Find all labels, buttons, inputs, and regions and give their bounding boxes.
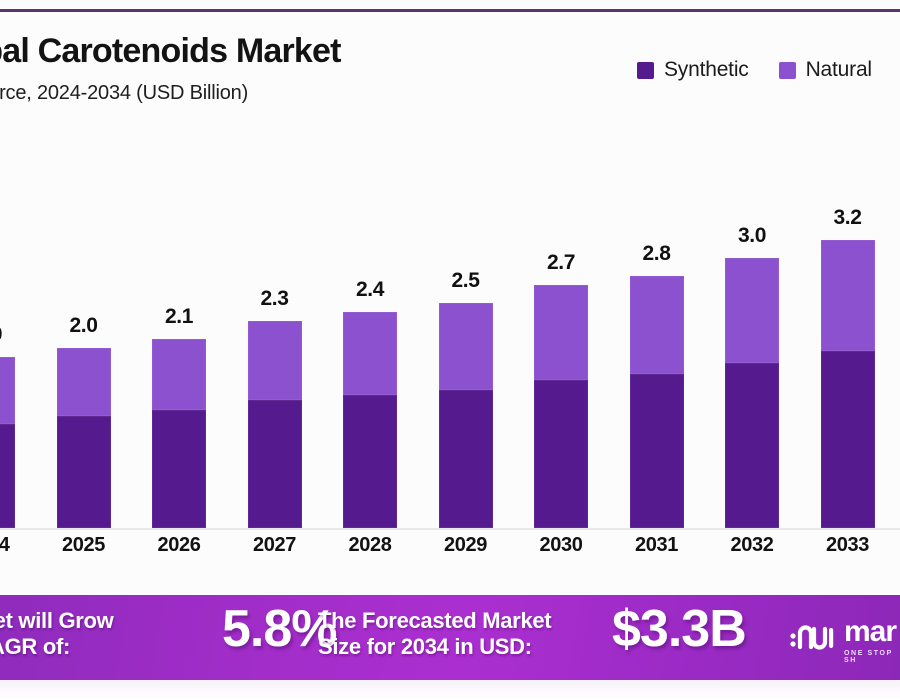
bar-segment-natural[interactable] (152, 339, 206, 410)
brand-wordmark: mar ONE STOP SH (844, 617, 900, 664)
bar-segment-natural[interactable] (534, 285, 588, 380)
bar-value-label: 2.7 (547, 251, 575, 275)
bar-2032[interactable]: 3.0 (725, 258, 779, 528)
bar-segment-natural[interactable] (821, 240, 875, 351)
bar-2026[interactable]: 2.1 (152, 339, 206, 528)
bar-value-label: 2.8 (643, 242, 671, 266)
square-swatch-icon (637, 62, 654, 79)
bar-value-label: 2.3 (261, 287, 289, 311)
brand-mark-icon (790, 623, 836, 658)
bar-segment-synthetic[interactable] (534, 380, 588, 529)
bar-2031[interactable]: 2.8 (630, 276, 684, 528)
bar-segment-natural[interactable] (57, 348, 111, 416)
bar-value-label: 1.9 (0, 323, 2, 347)
page-title: Global Carotenoids Market (0, 32, 341, 71)
legend-item-synthetic[interactable]: Synthetic (637, 58, 749, 82)
x-tick-2027: 2027 (236, 534, 314, 557)
legend-item-natural[interactable]: Natural (779, 58, 872, 82)
bar-2027[interactable]: 2.3 (248, 321, 302, 528)
bar-segment-synthetic[interactable] (152, 410, 206, 528)
bar-2030[interactable]: 2.7 (534, 285, 588, 528)
bar-value-label: 2.1 (165, 305, 193, 329)
bar-2024[interactable]: 1.9 (0, 357, 15, 528)
bar-segment-synthetic[interactable] (0, 424, 15, 528)
x-tick-2025: 2025 (45, 534, 123, 557)
x-tick-2033: 2033 (809, 534, 887, 557)
x-tick-2024: 2024 (0, 534, 27, 557)
bar-segment-natural[interactable] (248, 321, 302, 400)
chart-legend: SyntheticNatural (637, 58, 872, 82)
bar-value-label: 3.0 (738, 224, 766, 248)
x-tick-2028: 2028 (331, 534, 409, 557)
page-subtitle: by Source, 2024-2034 (USD Billion) (0, 82, 248, 105)
x-tick-2029: 2029 (427, 534, 505, 557)
bar-2029[interactable]: 2.5 (439, 303, 493, 528)
banner-forecast-label: The Forecasted Market Size for 2034 in U… (318, 608, 551, 659)
brand-logo[interactable]: mar ONE STOP SH (790, 617, 900, 664)
bar-segment-natural[interactable] (630, 276, 684, 374)
x-axis-baseline (0, 528, 900, 530)
bar-2028[interactable]: 2.4 (343, 312, 397, 528)
bar-value-label: 2.5 (452, 269, 480, 293)
top-divider-rule (0, 9, 900, 12)
bar-segment-synthetic[interactable] (439, 390, 493, 528)
square-swatch-icon (779, 62, 796, 79)
bar-segment-natural[interactable] (0, 357, 15, 424)
x-axis-tick-labels: 2024202520262027202820292030203120322033 (0, 534, 900, 574)
bar-value-label: 2.0 (70, 314, 98, 338)
bar-value-label: 3.2 (834, 206, 862, 230)
banner-cagr-label: ...rket will Grow ...CAGR of: (0, 608, 114, 659)
legend-label: Natural (806, 58, 872, 82)
brand-tagline: ONE STOP SH (844, 650, 900, 664)
bar-segment-synthetic[interactable] (725, 363, 779, 528)
bar-segment-natural[interactable] (343, 312, 397, 395)
banner-forecast-value: $3.3B (612, 599, 746, 659)
x-tick-2026: 2026 (140, 534, 218, 557)
bar-segment-natural[interactable] (439, 303, 493, 390)
bar-segment-synthetic[interactable] (821, 351, 875, 528)
bar-value-label: 2.4 (356, 278, 384, 302)
x-tick-2030: 2030 (522, 534, 600, 557)
bar-segment-synthetic[interactable] (248, 400, 302, 528)
bar-segment-synthetic[interactable] (57, 416, 111, 529)
bar-2033[interactable]: 3.2 (821, 240, 875, 528)
x-tick-2032: 2032 (713, 534, 791, 557)
bar-segment-synthetic[interactable] (343, 395, 397, 528)
legend-label: Synthetic (664, 58, 749, 82)
summary-banner: ...rket will Grow ...CAGR of: 5.8% The F… (0, 595, 900, 680)
bar-2025[interactable]: 2.0 (57, 348, 111, 528)
brand-name: mar (844, 617, 900, 647)
bar-segment-synthetic[interactable] (630, 374, 684, 528)
x-tick-2031: 2031 (618, 534, 696, 557)
chart-plot-area: 1.92.02.12.32.42.52.72.83.03.2 (0, 118, 900, 530)
bar-segment-natural[interactable] (725, 258, 779, 363)
bottom-fade-strip (0, 680, 900, 700)
